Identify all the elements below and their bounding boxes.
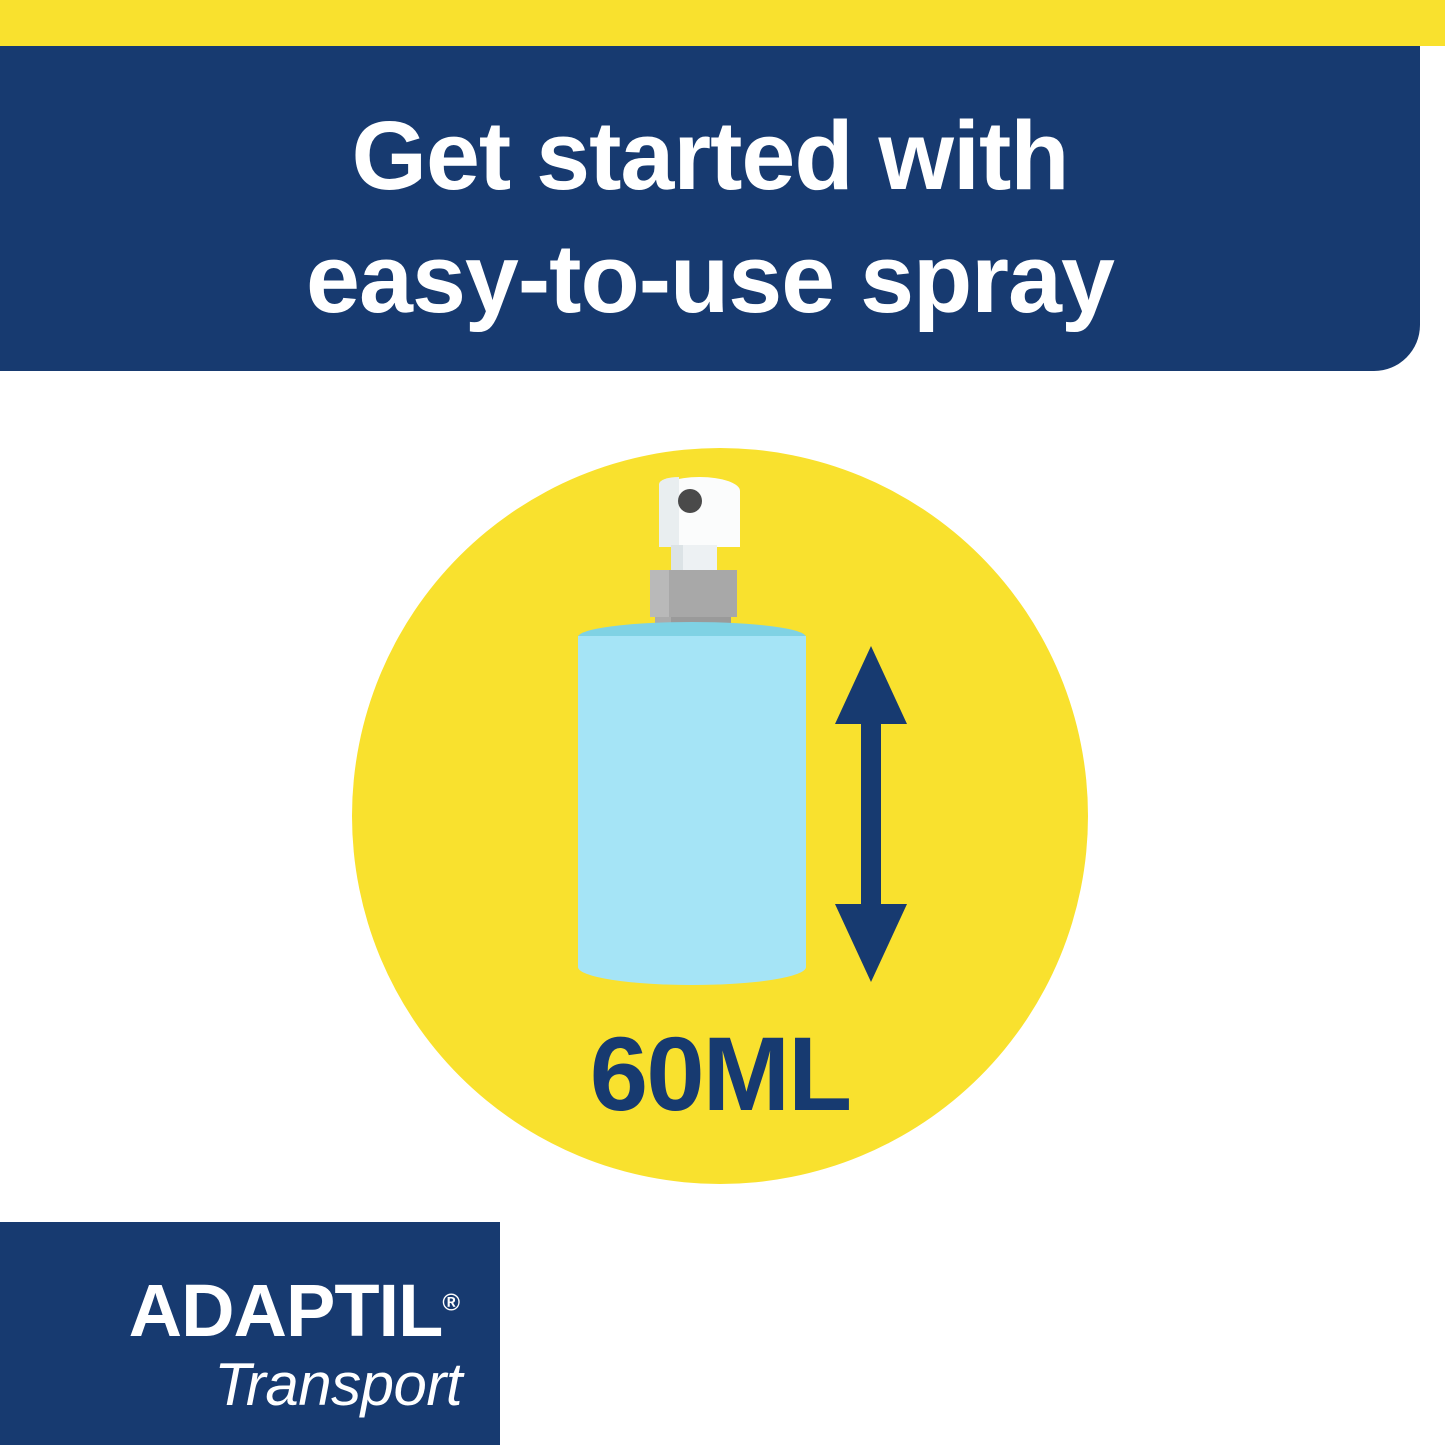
top-accent-strip <box>0 0 1445 46</box>
volume-label: 60ML <box>352 1022 1088 1127</box>
registered-trademark-mark: ® <box>442 1289 460 1316</box>
header-panel: Get started with easy-to-use spray <box>0 46 1420 371</box>
promo-graphic-canvas: Get started with easy-to-use spray 60ML … <box>0 0 1445 1445</box>
product-line-name: Transport <box>0 1355 462 1415</box>
page-title: Get started with easy-to-use spray <box>0 94 1420 340</box>
brand-name: ADAPTIL® <box>0 1274 460 1348</box>
brand-name-text: ADAPTIL <box>129 1269 443 1352</box>
brand-logo-block: ADAPTIL® Transport <box>0 1222 500 1445</box>
